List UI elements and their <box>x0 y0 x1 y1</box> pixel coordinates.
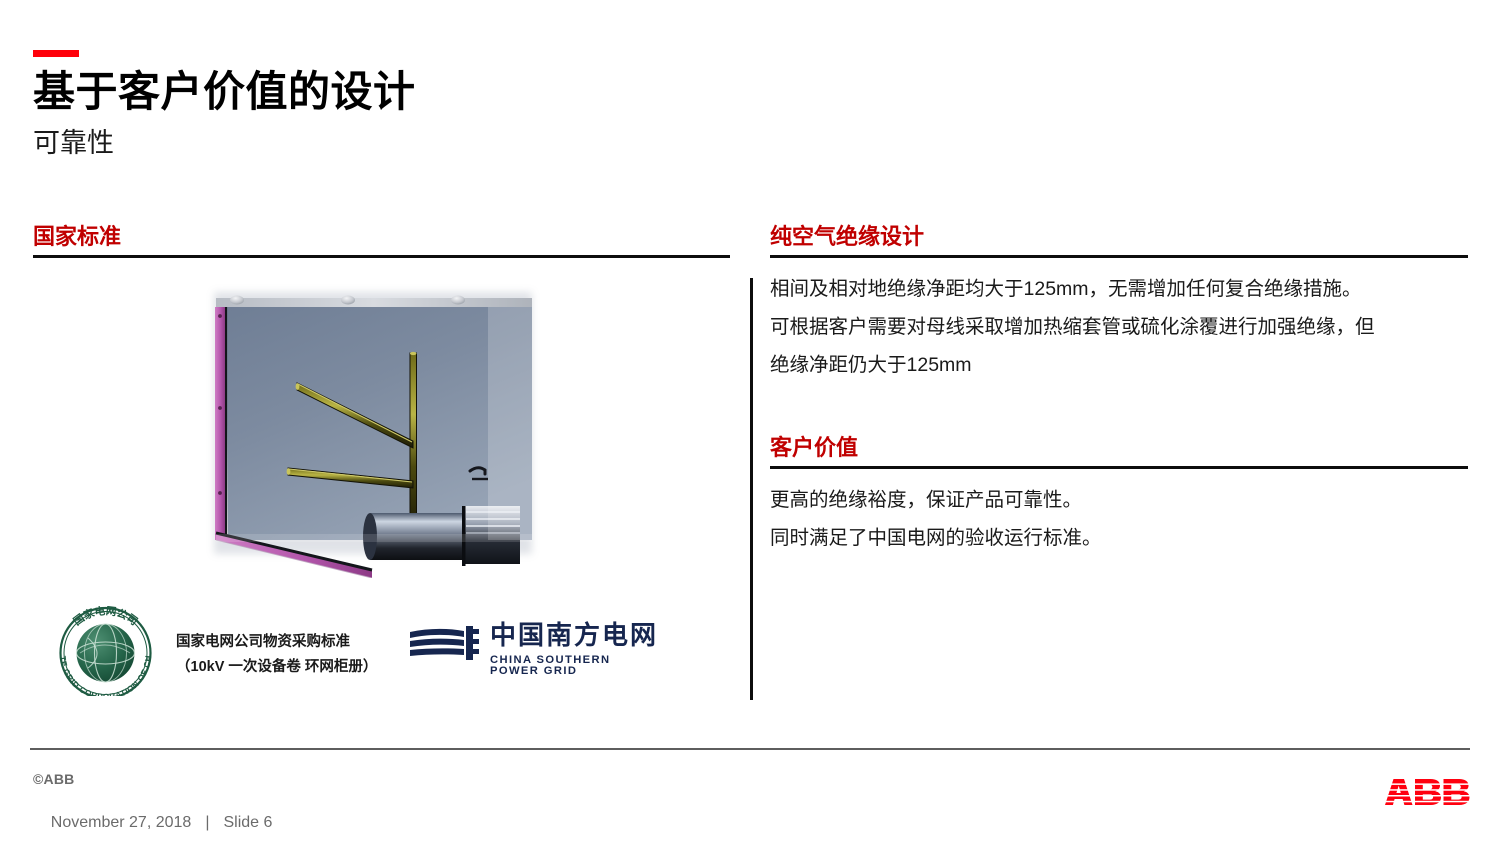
csg-text-chinese: 中国南方电网 <box>490 622 658 648</box>
state-grid-caption: 国家电网公司物资采购标准 （10kV 一次设备卷 环网柜册） <box>176 630 426 681</box>
footer-meta: November 27, 2018|Slide 6 <box>33 791 272 855</box>
state-grid-caption-line1: 国家电网公司物资采购标准 <box>176 630 426 655</box>
switchgear-cad-figure <box>170 278 590 578</box>
footer-separator: | <box>205 814 209 831</box>
section-rule-customer-value <box>770 466 1468 469</box>
csg-text-english: CHINA SOUTHERN POWER GRID <box>490 655 663 677</box>
gasket-hole <box>218 406 222 410</box>
right-column: 纯空气绝缘设计 相间及相对地绝缘净距均大于125mm，无需增加任何复合绝缘措施。… <box>770 225 1468 557</box>
state-grid-caption-line2: （10kV 一次设备卷 环网柜册） <box>176 655 426 680</box>
air-insulation-line-2: 可根据客户需要对母线采取增加热缩套管或硫化涂覆进行加强绝缘，但 <box>770 308 1468 346</box>
customer-value-line-2: 同时满足了中国电网的验收运行标准。 <box>770 519 1468 557</box>
section-heading-customer-value: 客户价值 <box>770 436 1468 466</box>
state-grid-logo: 国家电网公司 STATE GRID CORPORATION OF CHINA <box>48 606 163 696</box>
red-accent-bar <box>33 50 79 57</box>
abb-logo <box>1385 779 1471 805</box>
slide-footer: ©ABB November 27, 2018|Slide 6 <box>33 771 272 855</box>
gasket-hole <box>218 314 222 318</box>
panel-screw <box>451 296 465 305</box>
panel-screw <box>230 296 244 305</box>
footer-date: November 27, 2018 <box>51 814 192 831</box>
customer-value-line-1: 更高的绝缘裕度，保证产品可靠性。 <box>770 481 1468 519</box>
panel-screw <box>341 296 355 305</box>
page-title: 基于客户价值的设计 <box>33 70 1033 114</box>
certification-logos-row: 国家电网公司 STATE GRID CORPORATION OF CHINA 国… <box>48 606 688 701</box>
section-heading-national-standard: 国家标准 <box>33 225 730 255</box>
section-heading-air-insulation: 纯空气绝缘设计 <box>770 225 1468 255</box>
china-southern-power-grid-logo: 中国南方电网 CHINA SOUTHERN POWER GRID <box>408 620 663 680</box>
section-rule-air-insulation <box>770 255 1468 258</box>
column-divider <box>750 278 753 700</box>
air-insulation-line-1: 相间及相对地绝缘净距均大于125mm，无需增加任何复合绝缘措施。 <box>770 270 1468 308</box>
footer-divider <box>30 748 1470 750</box>
page-subtitle: 可靠性 <box>33 127 1033 159</box>
air-insulation-line-3: 绝缘净距仍大于125mm <box>770 346 1468 384</box>
footer-copyright: ©ABB <box>33 771 272 789</box>
section-rule-left <box>33 255 730 258</box>
customer-value-block: 客户价值 更高的绝缘裕度，保证产品可靠性。 同时满足了中国电网的验收运行标准。 <box>770 436 1468 557</box>
csg-mark-icon <box>408 620 480 666</box>
air-insulation-block: 纯空气绝缘设计 相间及相对地绝缘净距均大于125mm，无需增加任何复合绝缘措施。… <box>770 225 1468 384</box>
gasket-hole <box>218 491 222 495</box>
slide-header: 基于客户价值的设计 可靠性 <box>33 50 1033 159</box>
left-column: 国家标准 <box>33 225 730 270</box>
footer-slide-number: Slide 6 <box>223 814 272 831</box>
